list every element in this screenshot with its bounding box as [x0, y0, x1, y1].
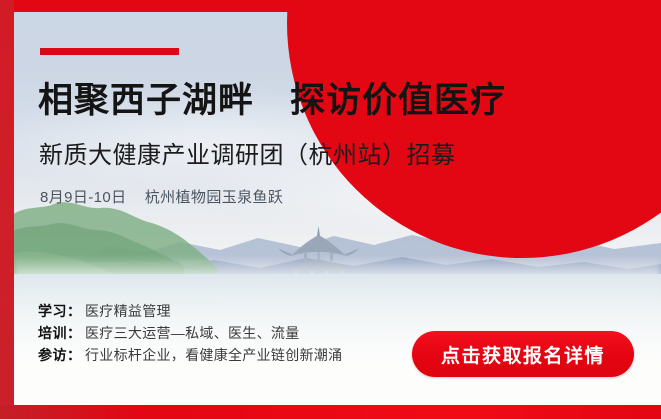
event-venue: 杭州植物园玉泉鱼跃 — [145, 189, 284, 206]
info-label-study: 学习 — [38, 300, 67, 322]
info-colon: ： — [67, 300, 85, 322]
promotional-poster: 相聚西子湖畔 探访价值医疗 新质大健康产业调研团（杭州站）招募 8月9日-10日… — [0, 0, 661, 419]
list-item: 培训 ： 医疗三大运营—私域、医生、流量 — [38, 322, 342, 344]
info-colon: ： — [67, 322, 85, 344]
info-list: 学习 ： 医疗精益管理 培训 ： 医疗三大运营—私域、医生、流量 参访 ： 行业… — [38, 300, 342, 366]
title-accent-bar — [40, 48, 179, 55]
info-colon: ： — [67, 344, 85, 366]
info-label-training: 培训 — [38, 322, 67, 344]
list-item: 学习 ： 医疗精益管理 — [38, 300, 342, 322]
info-value-training: 医疗三大运营—私域、医生、流量 — [85, 322, 300, 344]
poster-content: 相聚西子湖畔 探访价值医疗 新质大健康产业调研团（杭州站）招募 8月9日-10日… — [0, 0, 661, 419]
event-date: 8月9日-10日 — [40, 189, 127, 206]
poster-title: 相聚西子湖畔 探访价值医疗 — [38, 80, 506, 121]
register-cta-button[interactable]: 点击获取报名详情 — [412, 331, 634, 377]
list-item: 参访 ： 行业标杆企业，看健康全产业链创新潮涌 — [38, 344, 342, 366]
info-value-visit: 行业标杆企业，看健康全产业链创新潮涌 — [85, 344, 342, 366]
info-value-study: 医疗精益管理 — [85, 300, 171, 322]
event-meta: 8月9日-10日 杭州植物园玉泉鱼跃 — [40, 186, 283, 207]
info-label-visit: 参访 — [38, 344, 67, 366]
poster-subtitle: 新质大健康产业调研团（杭州站）招募 — [39, 142, 456, 171]
